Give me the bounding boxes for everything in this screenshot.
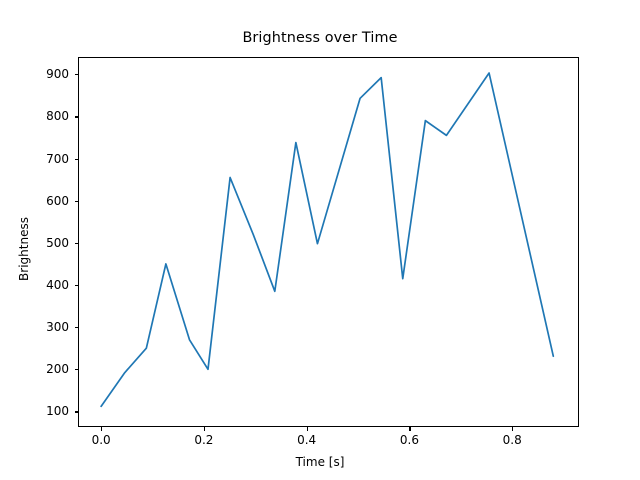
x-tick-mark	[307, 427, 308, 431]
x-tick-mark	[204, 427, 205, 431]
x-tick-label: 0.6	[379, 433, 439, 447]
matplotlib-figure: Brightness over Time 1002003004005006007…	[0, 0, 640, 480]
plot-area	[78, 57, 579, 427]
x-tick-mark	[409, 427, 410, 431]
x-tick-mark	[512, 427, 513, 431]
y-axis-label: Brightness	[17, 189, 31, 309]
x-tick-mark	[101, 427, 102, 431]
x-axis-label: Time [s]	[0, 455, 640, 469]
x-tick-label: 0.4	[277, 433, 337, 447]
x-tick-label: 0.0	[71, 433, 131, 447]
x-tick-label: 0.2	[174, 433, 234, 447]
line-series-brightness	[101, 73, 553, 406]
line-series-svg	[78, 57, 579, 427]
x-tick-label: 0.8	[482, 433, 542, 447]
